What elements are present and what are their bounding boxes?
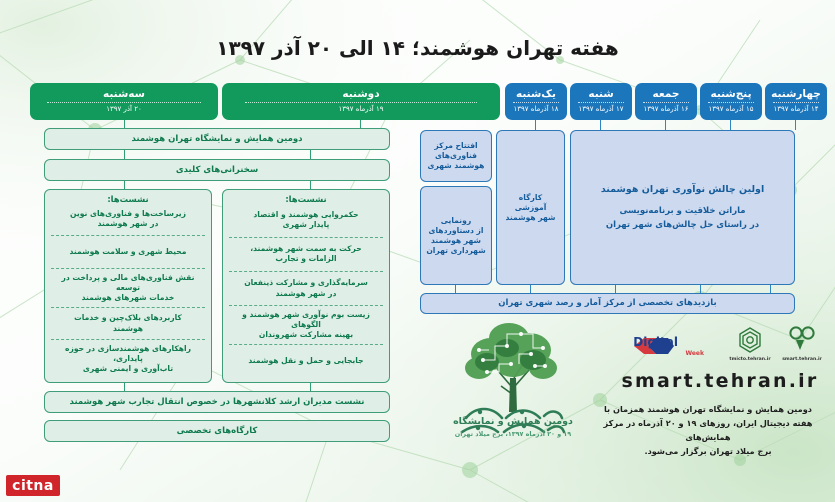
day-header-monday[interactable]: دوشنبه ۱۹ آذرماه ۱۳۹۷ [222,83,500,120]
session-item[interactable]: جابجایی و حمل و نقل هوشمند [229,344,383,378]
specialized-workshops-label: کارگاه‌های تخصصی [45,423,389,440]
logo-caption-secondary: ۱۹ و ۲۰ آذرماه ۱۳۹۷، برج میلاد تهران [418,430,608,438]
green-banner-label: دومین همایش و نمایشگاه تهران هوشمند [45,131,389,148]
citna-watermark: citna [6,475,60,496]
connector-wednesday [795,120,796,130]
day-divider [643,102,689,103]
session-item[interactable]: کاربردهای بلاک‌چین و خدماتهوشمند [51,307,205,340]
day-header-thursday[interactable]: پنج‌شنبه ۱۵ آذرماه ۱۳۹۷ [700,83,762,120]
session-item[interactable]: محیط شهری و سلامت هوشمند [51,235,205,268]
smart-tehran-logo-icon: smart.tehran.ir [782,327,822,362]
session-label: زیست بوم نوآوری شهر هوشمند و الگوهایبهین… [231,310,381,341]
day-name: دوشنبه [342,88,379,100]
day-divider [245,102,477,103]
keynotes-box[interactable]: سخنرانی‌های کلیدی [44,159,390,181]
day-divider [513,102,559,103]
day-name: سه‌شنبه [103,88,145,100]
session-item[interactable]: راهکارهای هوشمندسازی در حوزه پایداری،تاب… [51,339,205,378]
specialized-visits-label: بازدیدهای تخصصی از مرکز آمار و رصد شهری … [421,295,794,312]
innovation-challenge-content: اولین چالش نوآوری تهران هوشمند ماراتن خل… [571,181,794,234]
smart-tech-center-opening-box[interactable]: افتتاح مرکزفناوری‌هایهوشمند شهری [420,130,492,182]
connector-saturday [600,120,601,130]
session-label: سرمایه‌گذاری و مشارکت ذینفعاندر شهر هوشم… [244,278,368,298]
session-label: نقش فناوری‌های مالی و پرداخت در توسعهخدم… [53,273,203,304]
innovation-challenge-line-3: در راستای حل چالش‌های شهر تهران [606,220,759,231]
achievements-unveiling-label: رونماییاز دستاوردهایشهر هوشمندشهرداری ته… [421,213,491,259]
day-header-tuesday[interactable]: سه‌شنبه ۲۰ آذر ۱۳۹۷ [30,83,218,120]
smart-tech-center-opening-label: افتتاح مرکزفناوری‌هایهوشمند شهری [421,138,491,174]
innovation-challenge-box[interactable]: اولین چالش نوآوری تهران هوشمند ماراتن خل… [570,130,795,285]
session-label: حکمروایی هوشمند و اقتصادپایدار شهری [253,210,358,230]
day-header-saturday[interactable]: شنبه ۱۷ آذرماه ۱۳۹۷ [570,83,632,120]
sponsor-logos: Digital Week tmicto.tehran.ir smart.tehr… [630,324,830,372]
tehran-ict-logo-icon: tmicto.tehran.ir [729,328,771,362]
day-divider [708,102,754,103]
day-date: ۱۴ آذرماه ۱۳۹۷ [773,105,818,114]
educational-workshop-label: کارگاه آموزشیشهر هوشمند [497,190,564,226]
digital-week-logo-icon: Digital Week [633,335,705,357]
day-name: پنج‌شنبه [710,88,751,100]
session-item[interactable]: زیرساخت‌ها و فناوری‌های نویندر شهر هوشمن… [51,207,205,235]
innovation-challenge-line-1: اولین چالش نوآوری تهران هوشمند [601,184,764,196]
keynotes-label: سخنرانی‌های کلیدی [45,162,389,179]
session-item[interactable]: حکمروایی هوشمند و اقتصادپایدار شهری [229,207,383,237]
svg-text:Week: Week [685,350,705,357]
day-header-wednesday[interactable]: چهارشنبه ۱۴ آذرماه ۱۳۹۷ [765,83,827,120]
specialized-visits-box[interactable]: بازدیدهای تخصصی از مرکز آمار و رصد شهری … [420,293,795,314]
session-item[interactable]: نقش فناوری‌های مالی و پرداخت در توسعهخدم… [51,268,205,307]
session-label: کاربردهای بلاک‌چین و خدماتهوشمند [74,313,182,333]
day-divider [47,102,202,103]
mayors-meeting-label: نشست مدیران ارشد کلانشهرها در خصوص انتقا… [45,394,389,411]
event-logo: دومین همایش و نمایشگاه ۱۹ و ۲۰ آذرماه ۱۳… [418,320,608,470]
specialized-workshops-box[interactable]: کارگاه‌های تخصصی [44,420,390,442]
innovation-challenge-line-2: ماراتن خلاقیت و برنامه‌نویسی [619,206,745,217]
day-date: ۱۹ آذرماه ۱۳۹۷ [338,105,383,114]
sessions-head: نشست‌ها: [51,194,205,207]
event-description: دومین همایش و نمایشگاه تهران هوشمند همزم… [586,402,830,458]
day-date: ۲۰ آذر ۱۳۹۷ [106,105,141,114]
day-name: یک‌شنبه [516,88,556,100]
day-name: جمعه [653,88,680,100]
day-header-sunday[interactable]: یک‌شنبه ۱۸ آذرماه ۱۳۹۷ [505,83,567,120]
day-header-friday[interactable]: جمعه ۱۶ آذرماه ۱۳۹۷ [635,83,697,120]
tehran-smart-tree-logo-icon [418,320,608,470]
day-name: شنبه [588,88,613,100]
citna-label: citna [12,478,54,494]
connector-sunday [535,120,536,130]
session-item[interactable]: سرمایه‌گذاری و مشارکت ذینفعاندر شهر هوشم… [229,271,383,305]
sessions-column-tuesday[interactable]: نشست‌ها: زیرساخت‌ها و فناوری‌های نویندر … [44,189,212,383]
day-date: ۱۵ آذرماه ۱۳۹۷ [708,105,753,114]
connector-friday [665,120,666,130]
sessions-head: نشست‌ها: [229,194,383,207]
session-label: راهکارهای هوشمندسازی در حوزه پایداری،تاب… [53,344,203,375]
day-name: چهارشنبه [771,88,821,100]
smart-tehran-url[interactable]: smart.tehran.ir [610,370,830,392]
session-item[interactable]: زیست بوم نوآوری شهر هوشمند و الگوهایبهین… [229,305,383,344]
session-item[interactable]: حرکت به سمت شهر هوشمند،الزامات و تجارب [229,237,383,271]
green-banner-box[interactable]: دومین همایش و نمایشگاه تهران هوشمند [44,128,390,150]
connector-thursday [730,120,731,130]
mayors-meeting-box[interactable]: نشست مدیران ارشد کلانشهرها در خصوص انتقا… [44,391,390,413]
day-date: ۱۶ آذرماه ۱۳۹۷ [643,105,688,114]
session-label: حرکت به سمت شهر هوشمند،الزامات و تجارب [250,244,361,264]
achievements-unveiling-box[interactable]: رونماییاز دستاوردهایشهر هوشمندشهرداری ته… [420,186,492,285]
day-divider [773,102,819,103]
logo-caption-primary: دومین همایش و نمایشگاه [418,416,608,427]
svg-text:Digital: Digital [633,335,678,349]
session-label: زیرساخت‌ها و فناوری‌های نویندر شهر هوشمن… [70,209,186,229]
sessions-column-monday[interactable]: نشست‌ها: حکمروایی هوشمند و اقتصادپایدار … [222,189,390,383]
svg-text:smart.tehran.ir: smart.tehran.ir [782,356,822,362]
educational-workshop-box[interactable]: کارگاه آموزشیشهر هوشمند [496,130,565,285]
day-date: ۱۸ آذرماه ۱۳۹۷ [513,105,558,114]
day-divider [578,102,624,103]
session-label: محیط شهری و سلامت هوشمند [70,247,187,257]
svg-text:tmicto.tehran.ir: tmicto.tehran.ir [729,356,771,362]
session-label: جابجایی و حمل و نقل هوشمند [248,356,363,366]
day-date: ۱۷ آذرماه ۱۳۹۷ [578,105,623,114]
page-title: هفته تهران هوشمند؛ ۱۴ الی ۲۰ آذر ۱۳۹۷ [0,36,835,60]
